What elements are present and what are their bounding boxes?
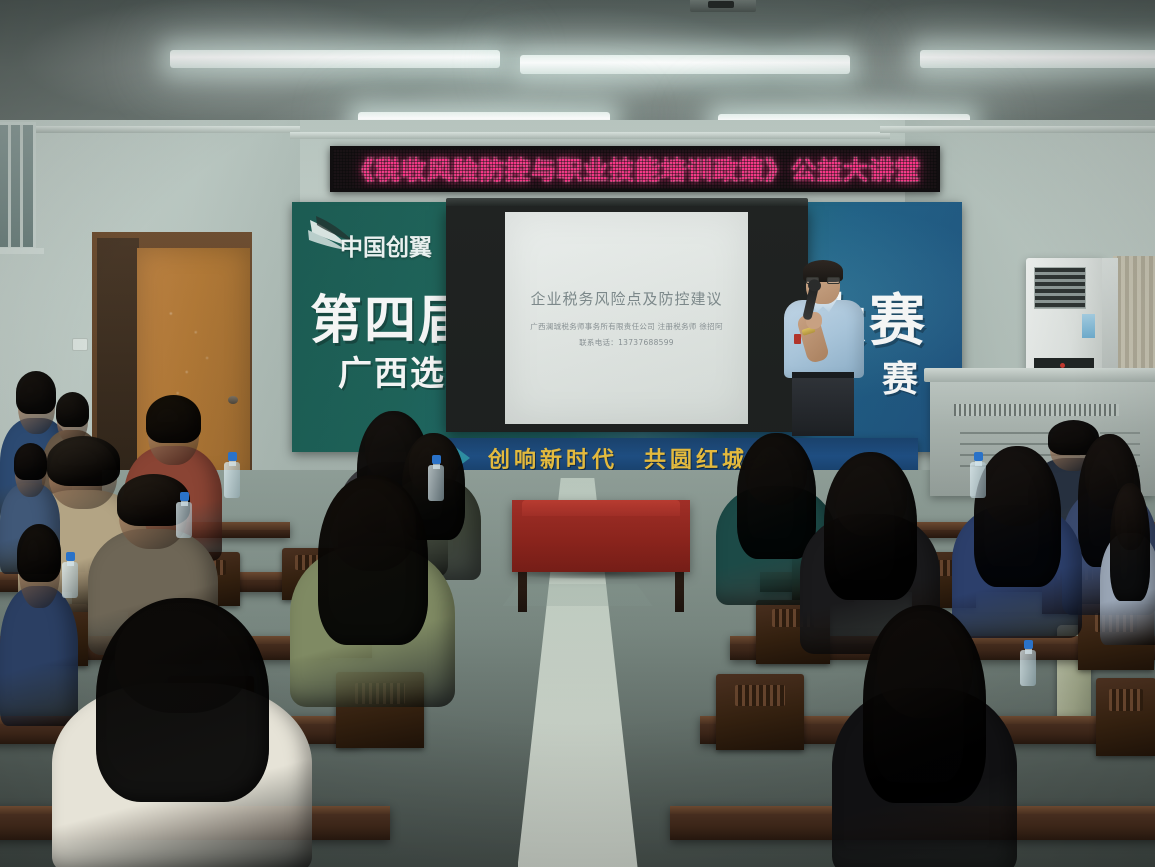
speaker-badge [794, 334, 801, 344]
ceiling-tube-light [520, 55, 850, 74]
projection-screen: 企业税务风险点及防控建议 广西澜珹税务师事务所有限责任公司 注册税务师 徐招阿 … [505, 212, 748, 424]
attendee-long-hair [1110, 483, 1150, 601]
led-scrolling-banner: 《税收风险防控与职业技能培训政策》公益大讲堂 [330, 146, 940, 192]
attendee-long-hair [863, 605, 986, 803]
attendee-long-hair [318, 475, 428, 645]
red-draped-table [512, 500, 690, 612]
window-mullion [8, 125, 11, 247]
attendee-hair [56, 392, 89, 427]
attendee-hair [146, 395, 201, 443]
speaker-presenter [778, 258, 870, 436]
ac-energy-label [1082, 314, 1095, 338]
slide-title: 企业税务风险点及防控建议 [530, 288, 722, 309]
ceiling-tube-light [170, 50, 500, 68]
cornice-left [0, 126, 300, 133]
attendee-center-front [832, 600, 1017, 867]
bottle-cap [66, 552, 75, 561]
window-mullion [20, 125, 23, 247]
attendee-hair [14, 443, 47, 480]
water-bottle [176, 492, 192, 538]
projector-lens [708, 1, 734, 8]
attendee-olive-jacket [290, 470, 455, 700]
bottle-body [428, 465, 444, 501]
table-leg [675, 570, 684, 612]
bottle-body [970, 462, 986, 498]
glasses-lens-right [827, 277, 840, 284]
slide-subtitle-line1: 广西澜珹税务师事务所有限责任公司 注册税务师 徐招阿 [530, 321, 723, 332]
water-bottle [224, 452, 240, 498]
bottle-cap [974, 452, 983, 461]
speaker-trousers [792, 374, 854, 436]
left-wall-window [0, 122, 36, 250]
conference-hall-photo: 中国创翼 第四届 广西选拔 大赛 赛 《税收风险防控与职业技能培训政策》公益大讲… [0, 0, 1155, 867]
bottle-body [62, 562, 78, 598]
attendee-hair [17, 524, 61, 582]
console-vents [954, 404, 1119, 416]
ac-vent-grille [1034, 267, 1086, 309]
attendee-right-stripe [1100, 480, 1155, 640]
water-bottle [1020, 640, 1036, 686]
attendee-long-hair [974, 446, 1061, 587]
ceiling-tube-light [920, 50, 1155, 68]
red-table-cloth [512, 500, 690, 572]
water-bottle [428, 455, 444, 501]
water-bottle [970, 452, 986, 498]
console-top [924, 368, 1155, 382]
backdrop-line1: 第四届 [310, 278, 452, 353]
cornice-center [290, 132, 890, 139]
bottle-cap [180, 492, 189, 501]
window-sill [0, 248, 44, 254]
bottle-body [1020, 650, 1036, 686]
bottle-cap [1024, 640, 1033, 649]
wall-outlet[interactable] [72, 338, 88, 351]
bottle-body [224, 462, 240, 498]
speaker-belt [792, 372, 854, 378]
slide-subtitle-line2: 联系电话：13737688599 [579, 337, 674, 348]
ceiling-projector [690, 0, 756, 12]
chair-back [716, 674, 804, 750]
bottle-body [176, 502, 192, 538]
backdrop-line2: 广西选拔 [338, 346, 452, 395]
bottle-cap [228, 452, 237, 461]
backdrop-brand-text: 中国创翼 [340, 228, 432, 262]
attendee-long-hair [824, 452, 917, 600]
chair-slats [735, 685, 784, 706]
door-knob-icon[interactable] [228, 396, 238, 404]
led-banner-text: 《税收风险防控与职业技能培训政策》公益大讲堂 [349, 151, 921, 187]
bottle-cap [432, 455, 441, 464]
water-bottle [62, 552, 78, 598]
backdrop-right-small: 赛 [882, 350, 920, 402]
chair-slats [1109, 689, 1143, 711]
attendee-cream-jacket [52, 592, 312, 867]
cornice-right [880, 126, 1155, 133]
table-leg [518, 570, 527, 612]
chair-back [1096, 678, 1155, 756]
attendee-long-hair [96, 598, 269, 802]
